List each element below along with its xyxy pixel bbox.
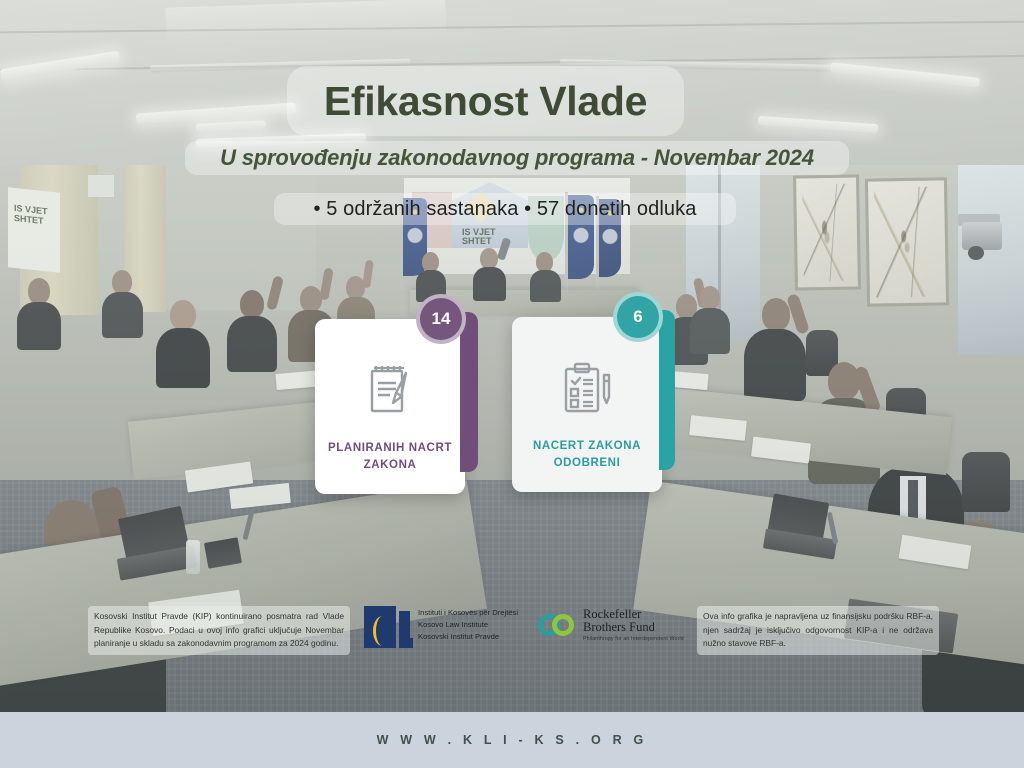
clipboard-checklist-pen-icon [561,361,613,420]
rbf-logo-text: Rockefeller Brothers Fund Philanthropy f… [583,608,684,642]
card-badge-count: 14 [416,294,466,344]
card-body: NACERT ZAKONA ODOBRENI [512,317,662,492]
stat-card-planned-draft-laws[interactable]: PLANIRANIH NACRT ZAKONA 14 [315,294,478,494]
footer-note-left: Kosovski Institut Pravde (KIP) kontinuir… [88,606,350,655]
kli-logo: Instituti i Kosovës për Drejtësi Kosovo … [364,602,518,648]
page-subtitle: U sprovođenju zakonodavnog programa - No… [220,145,814,171]
bottom-bar: W W W . K L I - K S . O R G [0,712,1024,768]
footer-note-right: Ova info grafika je napravljena uz finan… [697,606,939,655]
notepad-pencil-icon [366,363,414,422]
card-body: PLANIRANIH NACRT ZAKONA [315,319,465,494]
kli-logo-text: Instituti i Kosovës për Drejtësi Kosovo … [418,607,518,642]
page-title: Efikasnost Vlade [324,81,647,122]
stats-banner: • 5 održanih sastanaka • 57 donetih odlu… [274,193,736,225]
card-accent-bar [659,310,675,470]
stats-summary: • 5 održanih sastanaka • 57 donetih odlu… [314,198,697,221]
card-label: PLANIRANIH NACRT ZAKONA [315,440,465,473]
rbf-logo-line-1: Rockefeller [583,608,684,621]
kli-logo-line-3: Kosovski Institut Pravde [418,631,518,643]
rbf-logo: Rockefeller Brothers Fund Philanthropy f… [538,608,684,642]
subtitle-banner: U sprovođenju zakonodavnog programa - No… [185,141,849,175]
card-accent-bar [460,312,478,472]
card-badge-count: 6 [613,292,663,342]
kli-logo-mark-icon [364,602,412,648]
title-banner: Efikasnost Vlade [287,66,684,136]
kli-logo-line-2: Kosovo Law Institute [418,619,518,631]
rbf-logo-mark-icon [538,610,576,640]
stat-card-approved-draft-laws[interactable]: NACERT ZAKONA ODOBRENI 6 [512,292,675,492]
rbf-logo-tagline: Philanthropy for an Interdependent World [583,636,684,642]
rbf-logo-line-2: Brothers Fund [583,621,684,634]
website-url[interactable]: W W W . K L I - K S . O R G [377,733,648,747]
kli-logo-line-1: Instituti i Kosovës për Drejtësi [418,607,518,619]
card-label: NACERT ZAKONA ODOBRENI [512,438,662,471]
infographic-root: IS VJETSHTET IS VJETSHTET [0,0,1024,768]
